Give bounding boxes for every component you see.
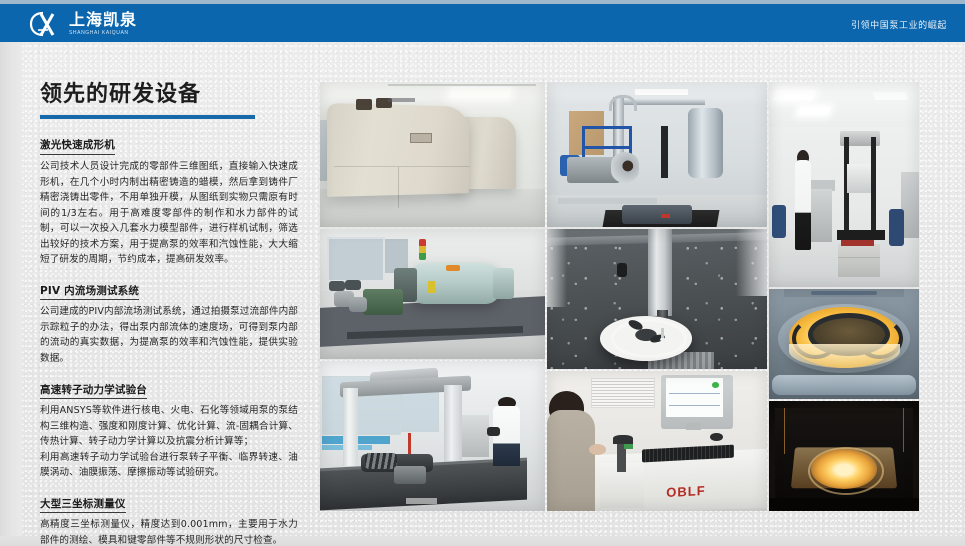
page-title: 领先的研发设备 xyxy=(40,82,298,108)
photo-image xyxy=(769,401,919,511)
slide-page: 上海凯泉 SHANGHAI KAIQUAN 引领中国泵工业的崛起 领先的研发设备… xyxy=(0,0,965,546)
section-cmm: 大型三坐标测量仪 高精度三坐标测量仪，精度达到0.001mm，主要用于水力部件的… xyxy=(40,494,298,546)
photo-cmm-impeller[interactable] xyxy=(547,229,767,369)
photo-piv-model-glow-bottom[interactable] xyxy=(769,401,919,511)
brand-logo[interactable]: 上海凯泉 SHANGHAI KAIQUAN xyxy=(28,10,137,38)
section-paragraph: 利用ANSYS等软件进行核电、火电、石化等领域用泵的泵结构三维构造、强度和刚度计… xyxy=(40,403,298,450)
section-heading: 激光快速成形机 xyxy=(40,139,115,155)
site-header: 上海凯泉 SHANGHAI KAIQUAN 引领中国泵工业的崛起 xyxy=(0,4,965,42)
slide-content: 领先的研发设备 激光快速成形机 公司技术人员设计完成的零部件三维图纸，直接输入快… xyxy=(0,42,965,546)
photo-image xyxy=(320,229,545,359)
section-heading: 大型三坐标测量仪 xyxy=(40,498,126,514)
photo-rotor-dynamics-rig[interactable] xyxy=(320,229,545,359)
brand-name-cn: 上海凯泉 xyxy=(69,12,137,28)
kaiquan-logo-icon xyxy=(28,11,62,37)
photo-laser-prototyping-machine[interactable] xyxy=(320,82,545,227)
photo-image xyxy=(320,361,545,511)
header-slogan: 引领中国泵工业的崛起 xyxy=(851,18,947,31)
section-paragraph: 利用高速转子动力学试验台进行泵转子平衡、临界转速、油膜涡动、油膜振荡、摩擦振动等… xyxy=(40,450,298,481)
photo-material-testing-lab[interactable] xyxy=(769,82,919,287)
photo-image xyxy=(547,229,767,369)
brand-name-en: SHANGHAI KAIQUAN xyxy=(69,31,137,36)
photo-image xyxy=(769,82,919,287)
section-rotor-dynamics: 高速转子动力学试验台 利用ANSYS等软件进行核电、火电、石化等领域用泵的泵结构… xyxy=(40,380,298,481)
photo-image xyxy=(320,82,545,227)
title-underline-rule xyxy=(40,115,255,119)
section-paragraph: 高精度三坐标测量仪，精度达到0.001mm，主要用于水力部件的测绘、模具和键零部… xyxy=(40,517,298,546)
photo-piv-piping-lab[interactable] xyxy=(547,82,767,227)
brand-logo-text: 上海凯泉 SHANGHAI KAIQUAN xyxy=(69,12,137,36)
text-column: 领先的研发设备 激光快速成形机 公司技术人员设计完成的零部件三维图纸，直接输入快… xyxy=(40,82,298,546)
photo-oblf-spectrometer[interactable]: OBLF xyxy=(547,371,767,511)
photo-image xyxy=(769,289,919,399)
section-heading: 高速转子动力学试验台 xyxy=(40,384,147,400)
photo-image: OBLF xyxy=(547,371,767,511)
photo-grid: OBLF xyxy=(320,82,919,511)
section-piv-system: PIV 内流场测试系统 公司建成的PIV内部流场测试系统，通过拍摄泵过流部件内部… xyxy=(40,281,298,367)
photo-large-cmm-operator[interactable] xyxy=(320,361,545,511)
photo-piv-model-glow-top[interactable] xyxy=(769,289,919,399)
section-heading: PIV 内流场测试系统 xyxy=(40,285,139,301)
photo-image xyxy=(547,82,767,227)
section-paragraph: 公司建成的PIV内部流场测试系统，通过拍摄泵过流部件内部示踪粒子的办法，得出泵内… xyxy=(40,304,298,366)
section-laser-prototyping: 激光快速成形机 公司技术人员设计完成的零部件三维图纸，直接输入快速成形机，在几个… xyxy=(40,135,298,267)
section-paragraph: 公司技术人员设计完成的零部件三维图纸，直接输入快速成形机，在几个小时内制出精密铸… xyxy=(40,159,298,268)
